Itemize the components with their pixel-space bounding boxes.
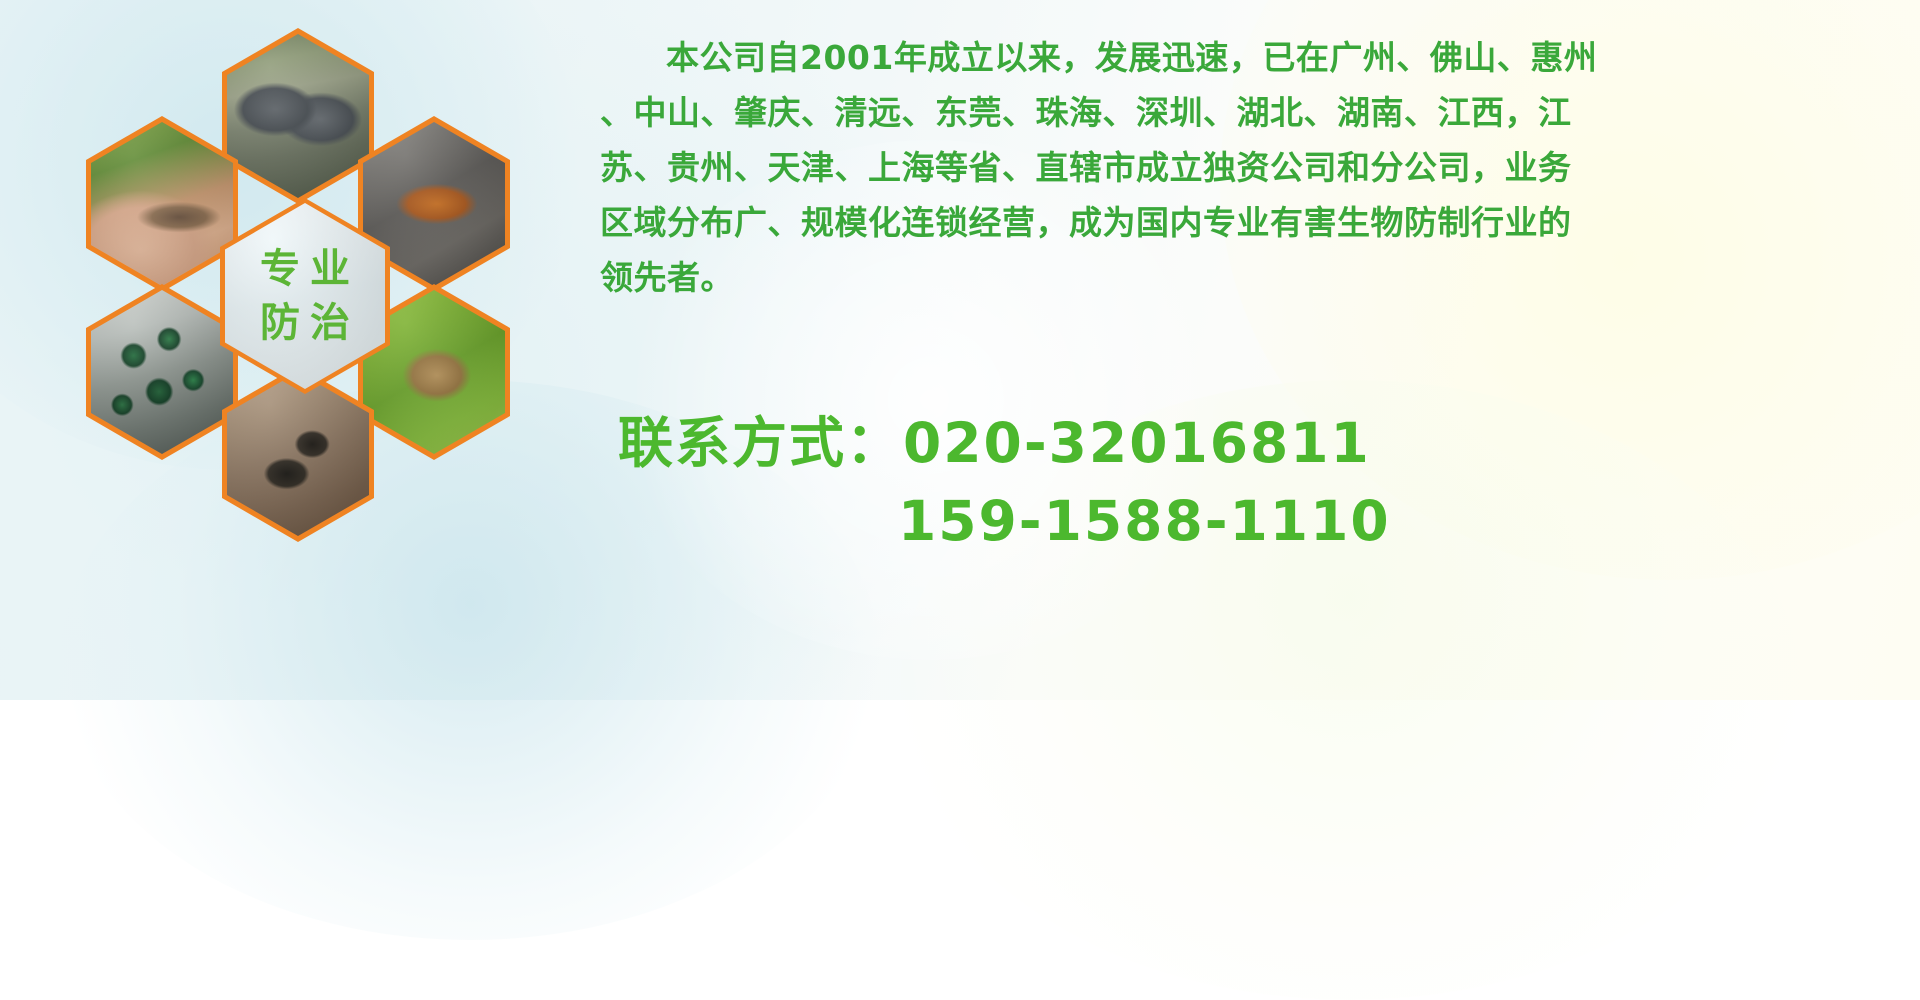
intro-line-3: 苏、贵州、天津、上海等省、直辖市成立独资公司和分公司，业务 bbox=[600, 140, 1900, 195]
hex-cell-flies bbox=[86, 284, 238, 460]
intro-line-1-text: 本公司自2001年成立以来，发展迅速，已在广州、佛山、惠州 bbox=[666, 38, 1597, 77]
contact-phone-primary[interactable]: 联系方式：020-32016811 bbox=[618, 404, 1391, 482]
intro-paragraph-block: 本公司自2001年成立以来，发展迅速，已在广州、佛山、惠州 、中山、肇庆、清远、… bbox=[600, 30, 1900, 305]
hex-cell-ant bbox=[222, 366, 374, 542]
honeycomb-collage: 专业 防治 bbox=[86, 6, 586, 566]
intro-line-4: 区域分布广、规模化连锁经营，成为国内专业有害生物防制行业的 bbox=[600, 195, 1900, 250]
contact-block: 联系方式：020-32016811 159-1588-1110 bbox=[618, 404, 1391, 560]
intro-line-2: 、中山、肇庆、清远、东莞、珠海、深圳、湖北、湖南、江西，江 bbox=[600, 85, 1900, 140]
flies-photo bbox=[91, 290, 233, 454]
ant-photo bbox=[227, 372, 369, 536]
contact-phone-1[interactable]: 020-32016811 bbox=[903, 411, 1371, 475]
promo-banner: 专业 防治 本公司自2001年成立以来，发展迅速，已在广州、佛山、惠州 、中山、… bbox=[0, 0, 1920, 700]
slogan-line-1: 专业 bbox=[250, 249, 360, 289]
contact-label: 联系方式： bbox=[618, 411, 903, 475]
slogan-line-2: 防治 bbox=[250, 303, 360, 343]
mosquito-photo bbox=[91, 122, 233, 286]
rats-photo bbox=[227, 34, 369, 198]
intro-line-1: 本公司自2001年成立以来，发展迅速，已在广州、佛山、惠州 bbox=[600, 30, 1900, 85]
intro-line-5: 领先者。 bbox=[600, 250, 1900, 305]
hex-cell-rats bbox=[222, 28, 374, 204]
hex-cell-mosquito bbox=[86, 116, 238, 292]
contact-phone-secondary[interactable]: 159-1588-1110 bbox=[618, 482, 1391, 560]
